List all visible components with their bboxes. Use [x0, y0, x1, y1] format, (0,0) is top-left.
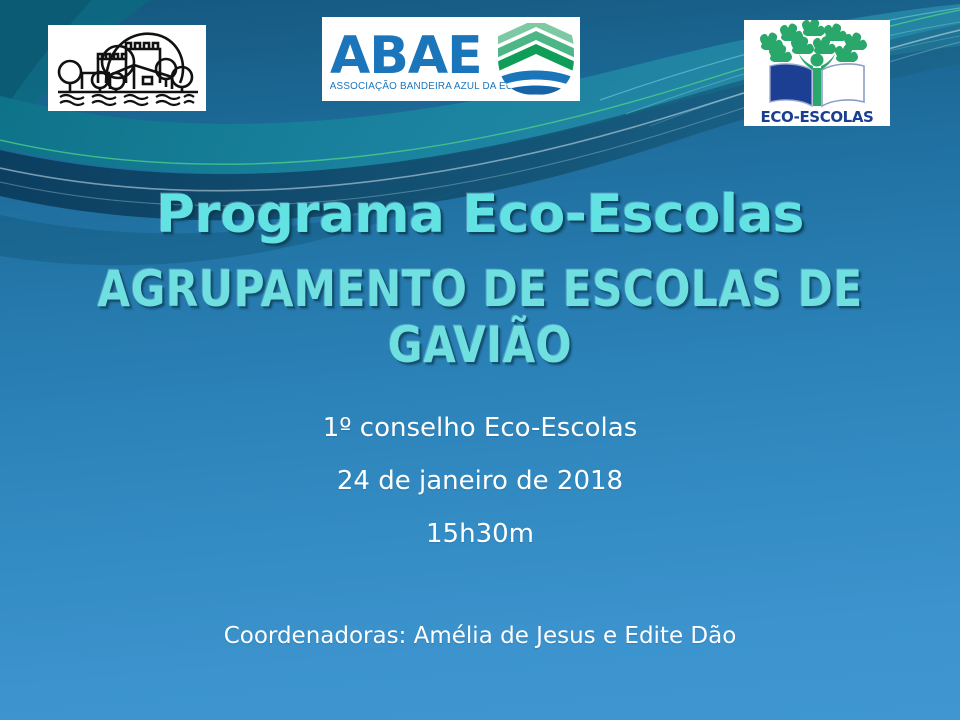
presentation-slide: ABAE ASSOCIAÇÃO BANDEIRA AZUL DA EUROPA [0, 0, 960, 720]
book-left-page [770, 64, 812, 106]
meeting-date: 24 de janeiro de 2018 [0, 468, 960, 494]
meeting-name: 1º conselho Eco-Escolas [0, 415, 960, 441]
eco-escolas-logo: ECO-ESCOLAS [744, 20, 890, 126]
book-right-page [822, 64, 864, 106]
page-subtitle: AGRUPAMENTO DE ESCOLAS DE GAVIÃO [29, 261, 931, 373]
eco-escolas-logo-icon: ECO-ESCOLAS [744, 20, 890, 126]
abae-logo-icon: ABAE ASSOCIAÇÃO BANDEIRA AZUL DA EUROPA [322, 17, 580, 101]
headline-block: Programa Eco-Escolas AGRUPAMENTO DE ESCO… [0, 186, 960, 373]
abae-logo: ABAE ASSOCIAÇÃO BANDEIRA AZUL DA EUROPA [322, 17, 580, 101]
eco-escolas-wordmark: ECO-ESCOLAS [761, 108, 874, 126]
meeting-time: 15h30m [0, 521, 960, 547]
abae-wordmark: ABAE [330, 26, 482, 86]
page-title: Programa Eco-Escolas [0, 186, 960, 243]
school-crest-icon [48, 25, 206, 111]
coordinators-credit: Coordenadoras: Amélia de Jesus e Edite D… [0, 623, 960, 649]
meeting-details: 1º conselho Eco-Escolas 24 de janeiro de… [0, 415, 960, 547]
school-crest-logo [48, 25, 206, 111]
